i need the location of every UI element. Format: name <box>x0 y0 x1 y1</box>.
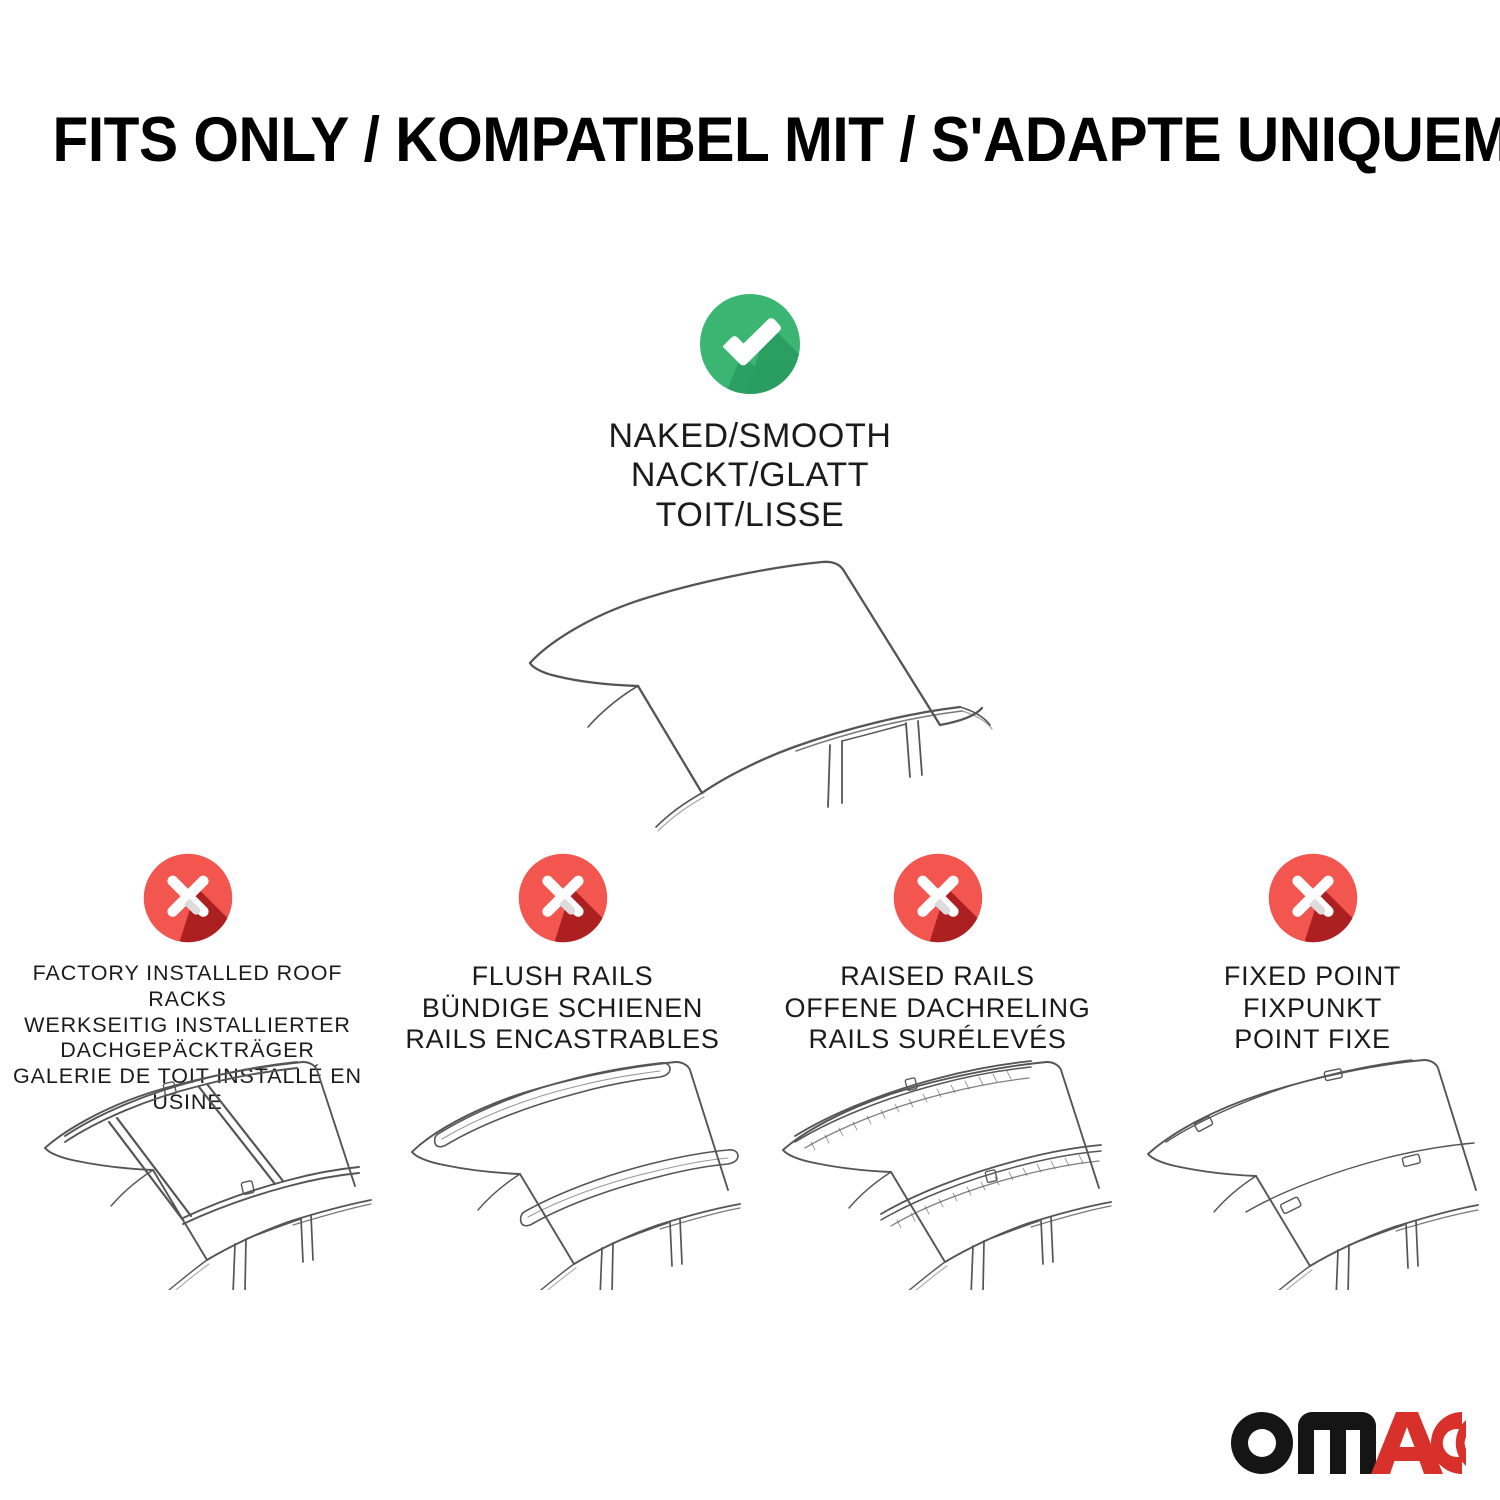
cross-circle-icon <box>142 852 234 949</box>
compatible-label-en: NAKED/SMOOTH <box>608 417 891 456</box>
naked-smooth-roof-illustration <box>470 545 1030 840</box>
label-en: FIXED POINT <box>1224 961 1401 993</box>
incompatible-roof-illustrations <box>0 1050 1500 1290</box>
incompatible-label-fixed-point: FIXED POINT FIXPUNKT POINT FIXE <box>1224 961 1401 1056</box>
compatible-label-fr: TOIT/LISSE <box>608 496 891 535</box>
cross-circle-icon <box>892 852 984 949</box>
compatible-roof-section: NAKED/SMOOTH NACKT/GLATT TOIT/LISSE <box>0 292 1500 840</box>
label-de-1: WERKSEITIG INSTALLIERTER <box>0 1013 375 1039</box>
flush-rails-illustration <box>375 1050 750 1290</box>
check-circle-icon <box>698 292 802 401</box>
cross-circle-icon <box>517 852 609 949</box>
label-en: FACTORY INSTALLED ROOF RACKS <box>0 961 375 1013</box>
omac-logo <box>1226 1408 1466 1478</box>
cross-circle-icon <box>1267 852 1359 949</box>
fixed-point-illustration <box>1125 1050 1500 1290</box>
infographic-page: FITS ONLY / KOMPATIBEL MIT / S'ADAPTE UN… <box>0 0 1500 1500</box>
compatible-roof-label: NAKED/SMOOTH NACKT/GLATT TOIT/LISSE <box>608 417 891 535</box>
page-title: FITS ONLY / KOMPATIBEL MIT / S'ADAPTE UN… <box>53 104 1448 176</box>
incompatible-label-flush-rails: FLUSH RAILS BÜNDIGE SCHIENEN RAILS ENCAS… <box>405 961 719 1056</box>
label-en: FLUSH RAILS <box>405 961 719 993</box>
label-de-1: BÜNDIGE SCHIENEN <box>405 993 719 1025</box>
compatible-label-de: NACKT/GLATT <box>608 456 891 495</box>
raised-rails-illustration <box>750 1050 1125 1290</box>
incompatible-label-raised-rails: RAISED RAILS OFFENE DACHRELING RAILS SUR… <box>785 961 1091 1056</box>
label-de-1: FIXPUNKT <box>1224 993 1401 1025</box>
label-en: RAISED RAILS <box>785 961 1091 993</box>
factory-roof-rack-illustration <box>0 1050 375 1290</box>
label-de-1: OFFENE DACHRELING <box>785 993 1091 1025</box>
